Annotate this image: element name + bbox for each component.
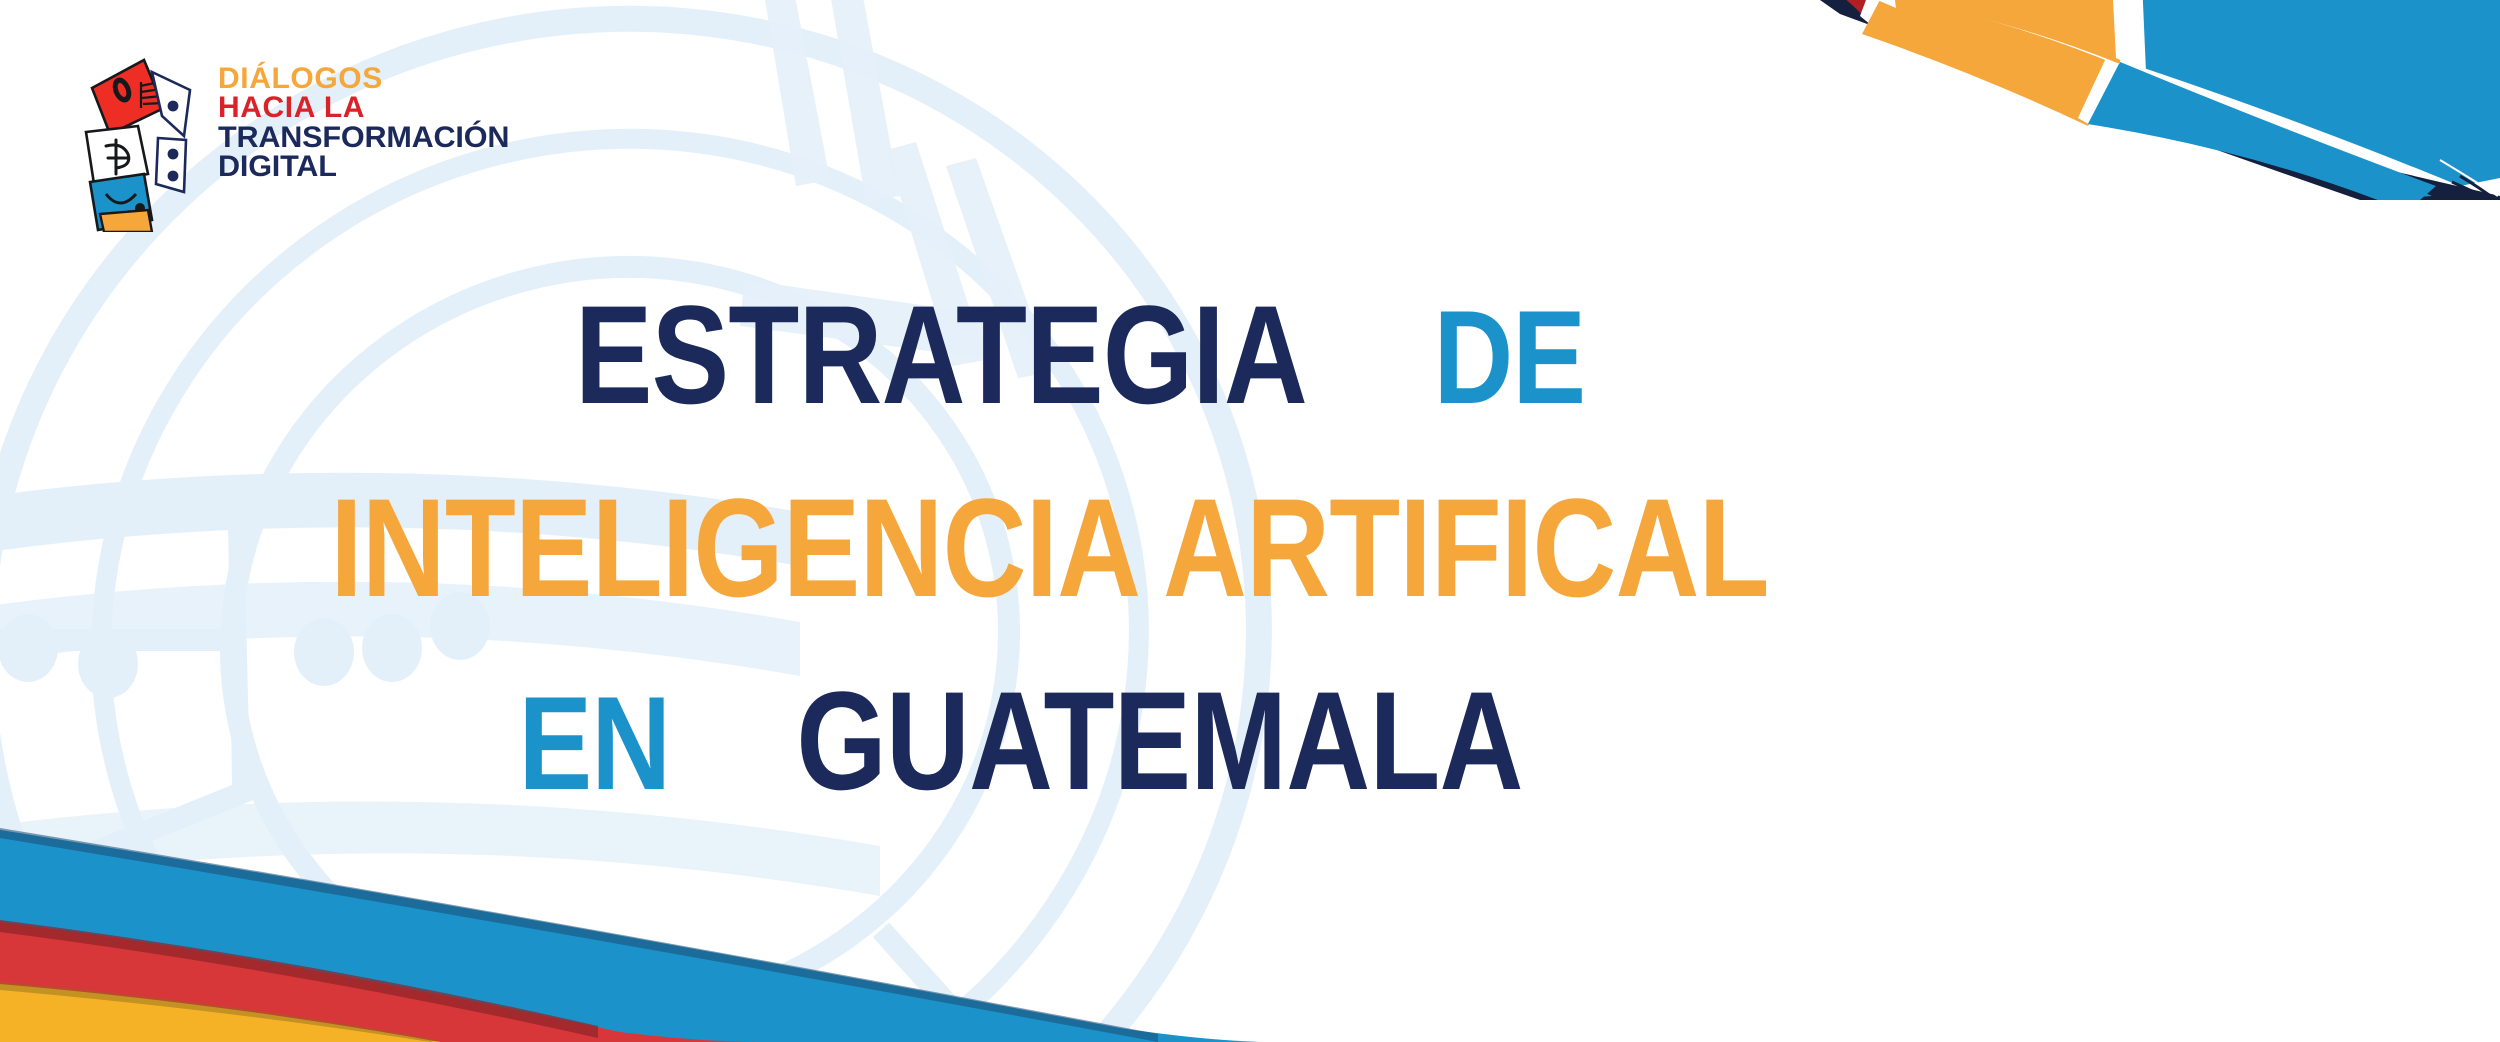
headline-line-1: ESTRATEGIA DE (0, 258, 2100, 451)
headline-word-estrategia: ESTRATEGIA (575, 258, 1307, 451)
dialogos-codex-fan-logo (78, 42, 196, 232)
page-title: ESTRATEGIA DE INTELIGENCIA ARTIFICAL EN … (0, 258, 2100, 838)
headline-word-guatemala: GUATEMALA (796, 644, 1522, 837)
headline-line-3: EN GUATEMALA (0, 644, 2100, 837)
logo-lockup: DIÁLOGOS HACIA LA TRANSFORMACIÓN DIGITAL (78, 42, 504, 232)
logo-line-hacia-la: HACIA LA (218, 93, 504, 122)
logo-line-dialogos: DIÁLOGOS (218, 64, 504, 93)
headline-line-2: INTELIGENCIA ARTIFICAL (0, 451, 2100, 644)
headline-word-en: EN (519, 653, 671, 837)
headline-word-de: DE (1433, 267, 1585, 451)
codex-ribbon-top-right (1820, 0, 2500, 200)
headline-word-inteligencia-artifical: INTELIGENCIA ARTIFICAL (331, 451, 1769, 644)
logo-wordmark: DIÁLOGOS HACIA LA TRANSFORMACIÓN DIGITAL (218, 42, 504, 182)
logo-line-digital: DIGITAL (218, 152, 509, 181)
logo-line-transformacion: TRANSFORMACIÓN (218, 123, 509, 152)
banner-slide: DIÁLOGOS HACIA LA TRANSFORMACIÓN DIGITAL… (0, 0, 2500, 1042)
